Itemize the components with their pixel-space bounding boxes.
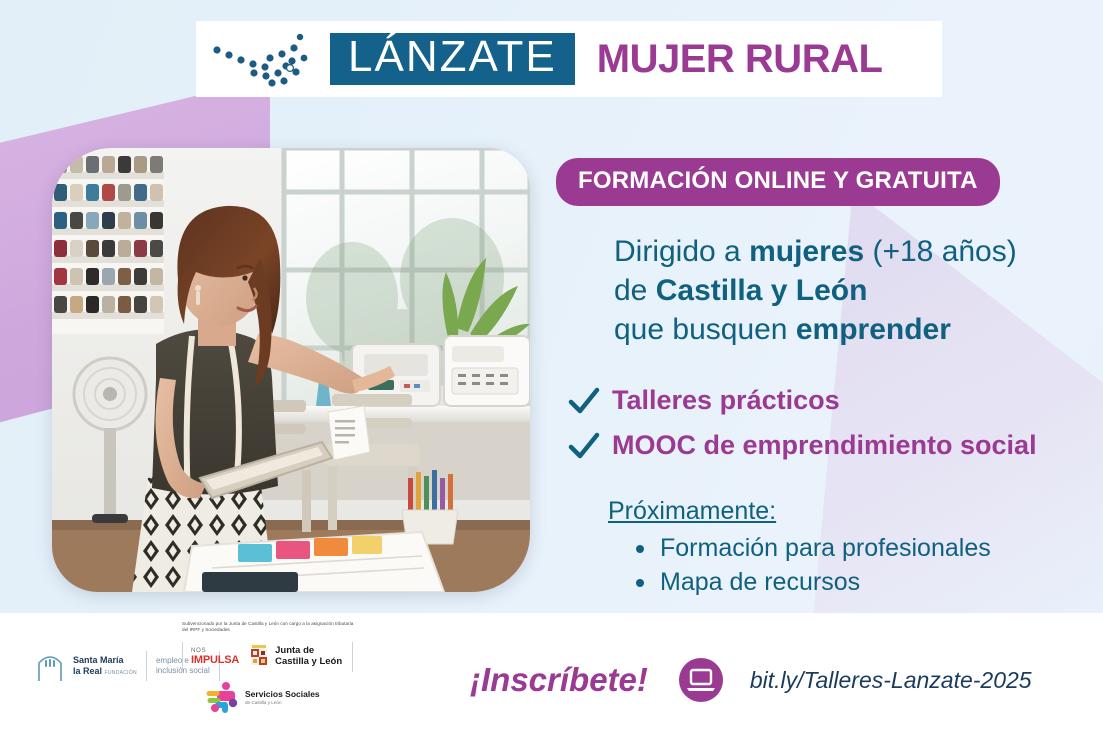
bullet-icon — [636, 579, 644, 587]
dotted-swoosh-logo-icon — [208, 28, 328, 90]
bullet-icon — [636, 545, 644, 553]
check-icon — [568, 386, 600, 416]
lead-line-3-bold: emprender — [796, 313, 951, 346]
lead-paragraph: Dirigido a mujeres (+18 años) de Castill… — [614, 232, 1066, 349]
lead-line-2-pre: de — [614, 274, 656, 307]
coming-soon-item-label: Formación para profesionales — [660, 534, 991, 562]
list-item: Formación para profesionales — [636, 532, 1066, 566]
feature-label: Talleres prácticos — [612, 385, 840, 416]
lead-line-2-bold: Castilla y León — [656, 274, 868, 307]
lead-line-1-pre: Dirigido a — [614, 235, 749, 268]
poster-root: LÁNZATE MUJER RURAL — [0, 0, 1103, 735]
castilla-leon-coat-of-arms-icon — [248, 645, 270, 669]
brand-primary: LÁNZATE — [330, 33, 575, 85]
divider — [352, 642, 353, 672]
nos-impulsa-line2: IMPULSA — [191, 655, 239, 667]
lead-line-3: que busquen emprender — [614, 310, 1066, 349]
santa-maria-foundation-tag: FUNDACIÓN — [105, 670, 137, 676]
junta-name: Junta de Castilla y León — [275, 646, 342, 668]
cta-label[interactable]: ¡Inscríbete! — [470, 661, 648, 699]
divider — [182, 642, 183, 672]
list-item: Mapa de recursos — [636, 566, 1066, 600]
servicios-sociales-logo: Servicios Sociales de Castilla y León — [206, 681, 354, 713]
junta-logos-block: Subvencionado por la Junta de Castilla y… — [182, 621, 354, 713]
lead-line-2: de Castilla y León — [614, 271, 1066, 310]
divider — [146, 651, 147, 681]
footer: Santa María la Real FUNDACIÓN empleo e i… — [0, 613, 1103, 735]
santa-maria-name: Santa María la Real FUNDACIÓN — [73, 655, 137, 676]
coming-soon-title: Próximamente: — [608, 497, 1066, 526]
junta-line1: Junta de — [275, 645, 314, 656]
lead-line-1-post: (+18 años) — [864, 235, 1017, 268]
registration-url[interactable]: bit.ly/Talleres-Lanzate-2025 — [750, 667, 1032, 694]
puzzle-person-icon — [206, 681, 240, 713]
lead-line-3-pre: que busquen — [614, 313, 796, 346]
nos-impulsa-logo: NOS IMPULSA — [191, 648, 239, 666]
brand-secondary: MUJER RURAL — [597, 37, 883, 82]
santa-maria-line1: Santa María — [73, 655, 124, 665]
header-band: LÁNZATE MUJER RURAL — [196, 21, 942, 97]
feature-list: Talleres prácticos MOOC de emprendimient… — [568, 385, 1066, 461]
main-content: FORMACIÓN ONLINE Y GRATUITA Dirigido a m… — [556, 158, 1066, 600]
lead-line-1-bold: mujeres — [749, 235, 864, 268]
junta-line2: Castilla y León — [275, 656, 342, 667]
course-badge: FORMACIÓN ONLINE Y GRATUITA — [556, 158, 1000, 206]
list-item: Talleres prácticos — [568, 385, 1066, 416]
coming-soon-section: Próximamente: Formación para profesional… — [608, 497, 1066, 600]
lead-line-1: Dirigido a mujeres (+18 años) — [614, 232, 1066, 271]
servicios-line2: de Castilla y León — [245, 700, 320, 705]
coming-soon-item-label: Mapa de recursos — [660, 568, 860, 596]
subsidy-text: Subvencionado por la Junta de Castilla y… — [182, 621, 354, 633]
woman-in-sewing-workshop-photo — [52, 148, 530, 592]
servicios-line1: Servicios Sociales — [245, 689, 320, 699]
coming-soon-list: Formación para profesionales Mapa de rec… — [636, 532, 1066, 600]
laptop-icon[interactable] — [678, 657, 724, 703]
check-icon — [568, 431, 600, 461]
list-item: MOOC de emprendimiento social — [568, 430, 1066, 461]
servicios-sociales-name: Servicios Sociales de Castilla y León — [245, 690, 320, 704]
registration-cta[interactable]: ¡Inscríbete! bit.ly/Talleres-Lanzate-202… — [470, 657, 1032, 703]
monastery-arch-icon — [33, 649, 67, 683]
junta-row: NOS IMPULSA — [182, 642, 354, 672]
santa-maria-line2: la Real — [73, 666, 102, 676]
feature-label: MOOC de emprendimiento social — [612, 430, 1037, 461]
